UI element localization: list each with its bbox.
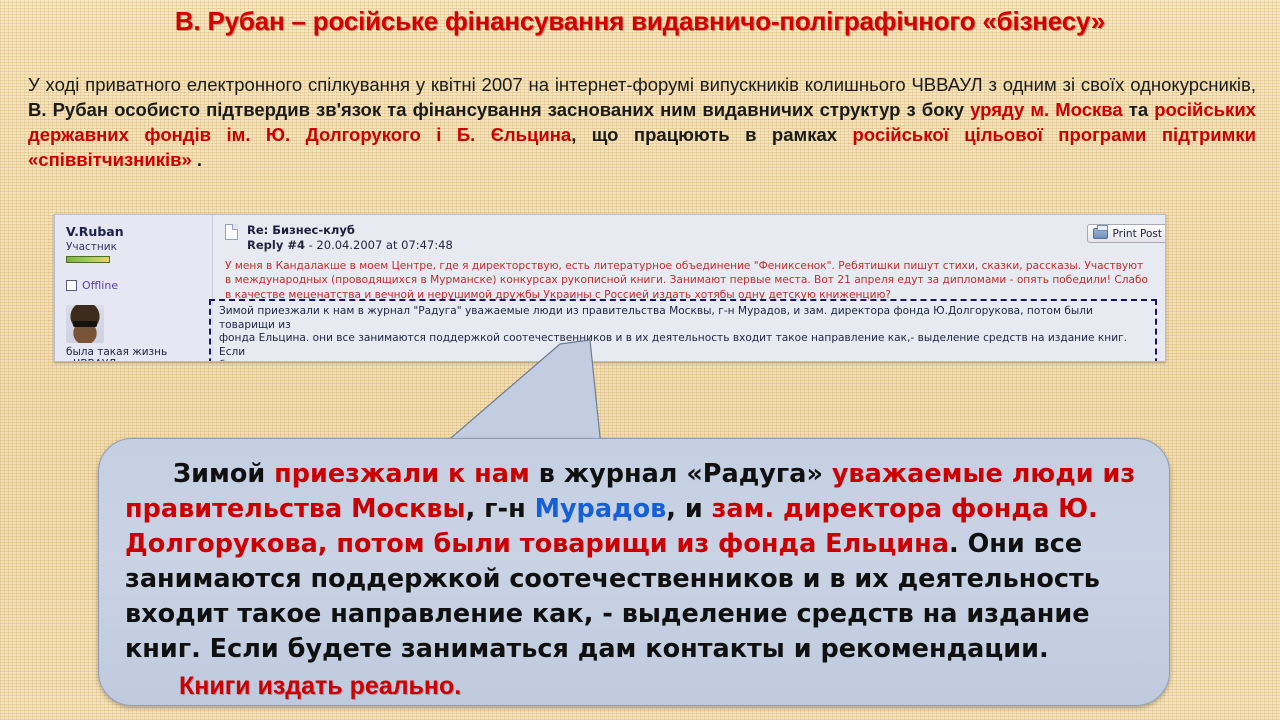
forum-post-header: Re: Бизнес-клуб Reply #4 - 20.04.2007 at… <box>213 215 1165 252</box>
quote-line-1: Зимой приезжали к нам в журнал "Радуга" … <box>219 305 1149 332</box>
offline-status-label: Offline <box>82 279 118 292</box>
forum-reply-timestamp: - 20.04.2007 at 07:47:48 <box>305 238 453 252</box>
callout-text: Зимой приезжали к нам в журнал «Радуга» … <box>125 457 1143 667</box>
callout-seg-3: в журнал «Радуга» <box>530 459 832 489</box>
print-post-label: Print Post <box>1113 228 1162 240</box>
forum-post-panel: Re: Бизнес-клуб Reply #4 - 20.04.2007 at… <box>213 215 1165 361</box>
page-title: В. Рубан – російське фінансування видавн… <box>0 6 1280 37</box>
avatar <box>66 305 104 343</box>
rank-bar-icon <box>66 256 110 263</box>
para-highlight-moscow: уряду м. Москва <box>970 99 1123 120</box>
print-post-button[interactable]: Print Post <box>1087 224 1166 243</box>
highlighted-quote-box: Зимой приезжали к нам в журнал "Радуга" … <box>209 299 1157 362</box>
quote-line-3: будете заниматся дам контакты и рекоменд… <box>219 359 1149 362</box>
forum-user-status: Offline <box>66 279 212 292</box>
callout-seg-muradov: Мурадов <box>535 494 667 524</box>
forum-post-body: У меня в Кандалакше в моем Центре, где я… <box>225 259 1165 302</box>
forum-user-panel: V.Ruban Участник Offline была такая жизн… <box>55 215 213 361</box>
slide-root: В. Рубан – російське фінансування видавн… <box>0 0 1280 720</box>
forum-signature-line-2: - ЧВВАУЛ <box>66 358 212 362</box>
para-segment-1: У ході приватного електронного спілкуван… <box>28 74 1256 95</box>
forum-post-subject: Re: Бизнес-клуб <box>247 223 1165 237</box>
para-segment-2: В. Рубан особисто підтвердив зв'язок та … <box>28 99 970 120</box>
forum-signature-line-1: была такая жизнь <box>66 346 212 358</box>
para-segment-8: . <box>192 149 202 170</box>
forum-username: V.Ruban <box>66 224 212 239</box>
callout-seg-1: Зимой <box>173 459 274 489</box>
callout-seg-7: , и <box>666 494 711 524</box>
callout-seg-2: приезжали к нам <box>274 459 530 489</box>
body-paragraph: У ході приватного електронного спілкуван… <box>28 72 1256 172</box>
callout-final-line: Книги издать реально. <box>125 669 1143 704</box>
document-icon <box>225 224 238 240</box>
forum-post-meta: Reply #4 - 20.04.2007 at 07:47:48 <box>247 238 1165 252</box>
callout-seg-5: , г-н <box>466 494 535 524</box>
printer-icon <box>1093 228 1108 239</box>
quote-line-2: фонда Ельцина. они все занимаются поддер… <box>219 332 1149 359</box>
forum-user-role: Участник <box>66 241 212 253</box>
para-segment-4: та <box>1123 99 1155 120</box>
para-segment-6: , що працюють в рамках <box>571 124 852 145</box>
forum-reply-number: Reply #4 <box>247 238 305 252</box>
offline-status-icon <box>66 280 77 291</box>
callout-bubble: Зимой приезжали к нам в журнал «Радуга» … <box>98 438 1170 706</box>
forum-screenshot: V.Ruban Участник Offline была такая жизн… <box>54 214 1166 362</box>
